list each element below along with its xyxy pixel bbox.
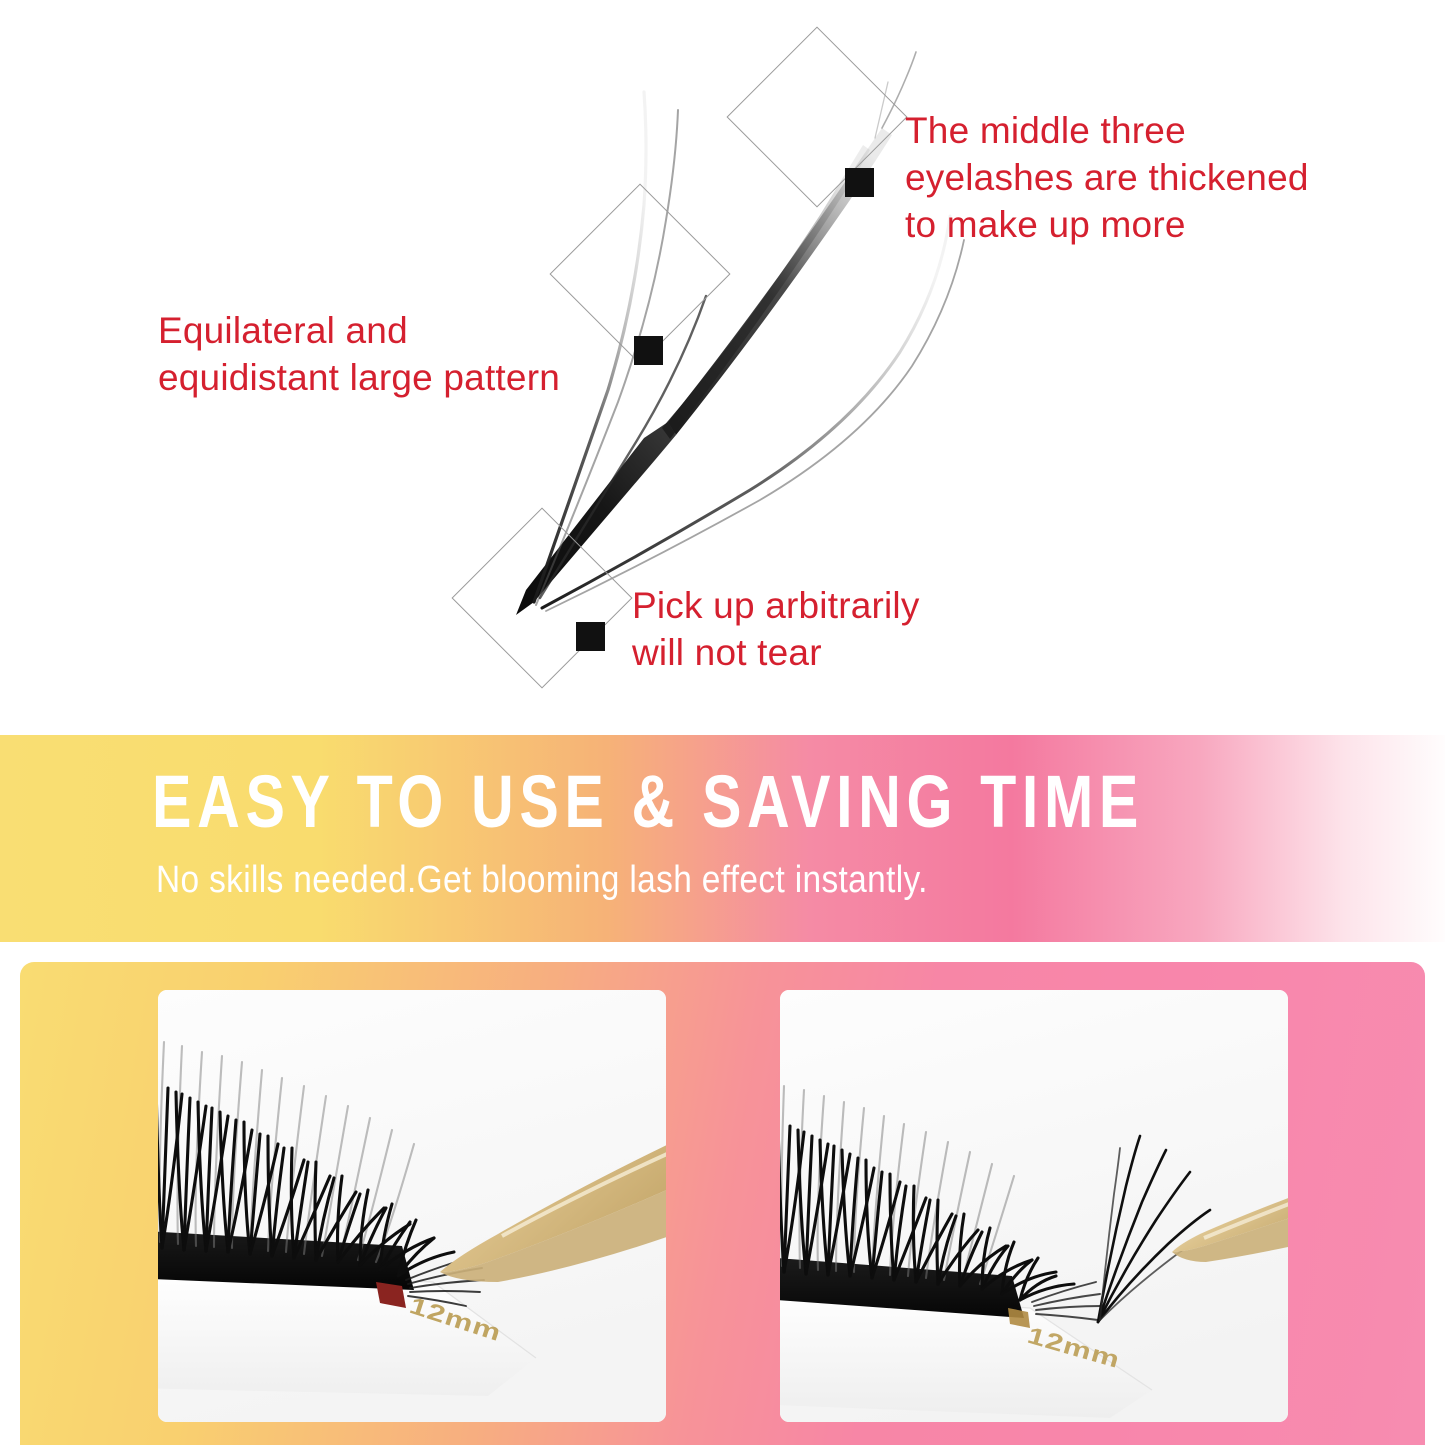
square-dot-icon xyxy=(845,168,874,197)
banner-subtitle: No skills needed.Get blooming lash effec… xyxy=(156,859,928,902)
square-dot-icon xyxy=(634,336,663,365)
callout-text-middle-three: The middle three eyelashes are thickened… xyxy=(905,108,1365,249)
square-dot-icon xyxy=(576,622,605,651)
headline-banner: EASY TO USE & SAVING TIME No skills need… xyxy=(0,735,1445,942)
photo-card-fan-lifted: 12mm xyxy=(780,990,1288,1422)
features-section: The middle three eyelashes are thickened… xyxy=(0,0,1445,735)
banner-title: EASY TO USE & SAVING TIME xyxy=(152,763,1144,841)
photo-panel: 12mm xyxy=(20,962,1425,1445)
callout-text-pick-up: Pick up arbitrarily will not tear xyxy=(632,583,1032,677)
product-infographic-page: The middle three eyelashes are thickened… xyxy=(0,0,1445,1445)
photo-card-tweezer-picking: 12mm xyxy=(158,990,666,1422)
callout-text-equilateral: Equilateral and equidistant large patter… xyxy=(158,308,628,402)
